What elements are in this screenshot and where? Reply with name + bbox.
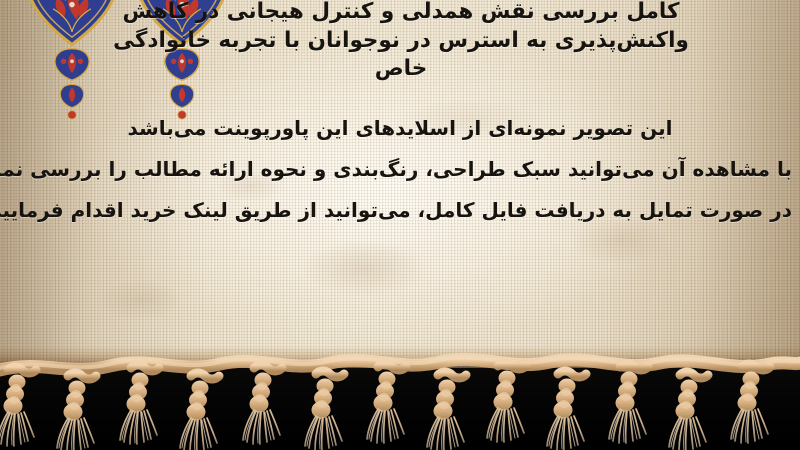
- fringe-tassels: [0, 332, 800, 450]
- body-line-1: این تصویر نمونه‌ای از اسلایدهای این پاور…: [8, 108, 792, 149]
- slide-title: کامل بررسی نقش همدلی و کنترل هیجانی در ک…: [0, 0, 800, 84]
- presentation-slide: کامل بررسی نقش همدلی و کنترل هیجانی در ک…: [0, 0, 800, 450]
- title-line-2: واکنش‌پذیری به استرس در نوجوانان با تجرب…: [8, 27, 794, 56]
- title-line-3: خاص: [8, 55, 794, 84]
- carpet-fringe: [0, 332, 800, 450]
- tassel-row: [0, 363, 770, 450]
- body-line-3: در صورت تمایل به دریافت فایل کامل، می‌تو…: [8, 190, 792, 231]
- title-line-1: کامل بررسی نقش همدلی و کنترل هیجانی در ک…: [8, 0, 794, 27]
- slide-body-text: این تصویر نمونه‌ای از اسلایدهای این پاور…: [0, 108, 800, 231]
- body-line-2: با مشاهده آن می‌توانید سبک طراحی، رنگ‌بن…: [8, 149, 792, 190]
